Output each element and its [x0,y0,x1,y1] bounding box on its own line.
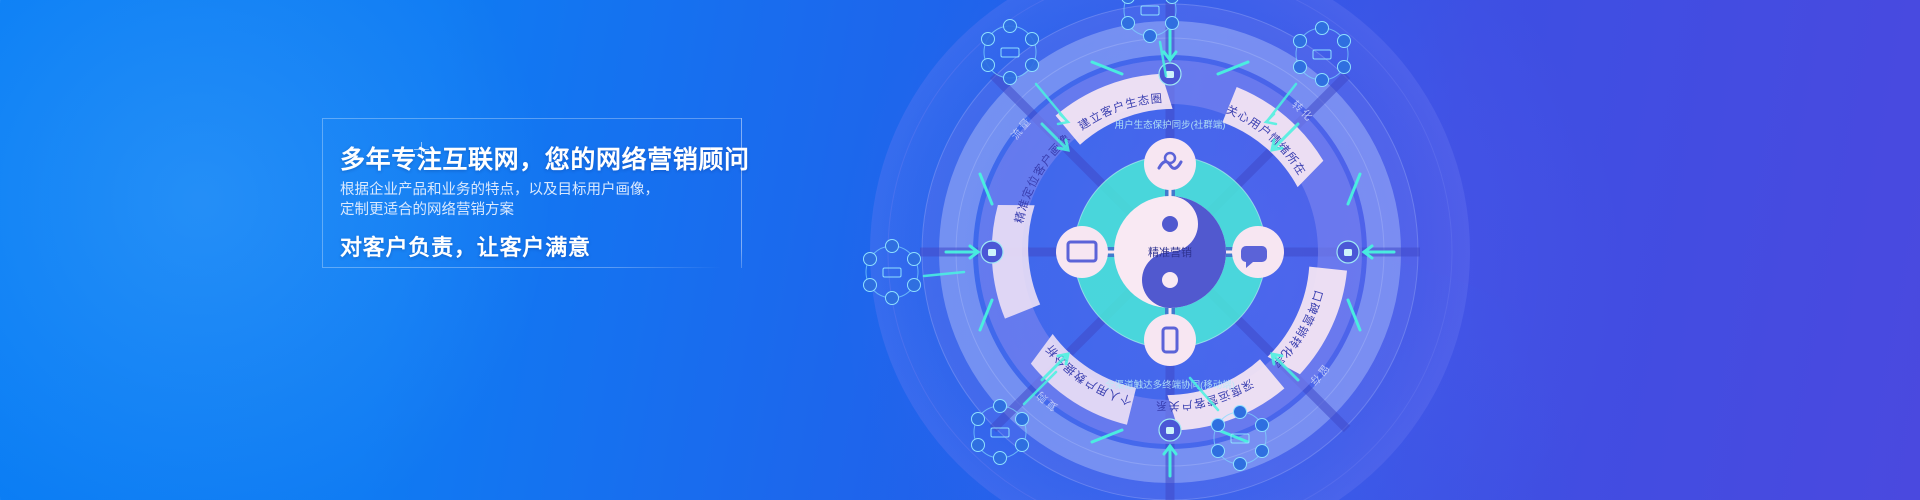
subtitle-block: 根据企业产品和业务的特点，以及目标用户画像， 定制更适合的网络营销方案 [340,180,659,220]
marketing-banner: 多年专注互联网，您的网络营销顾问 根据企业产品和业务的特点，以及目标用户画像， … [0,0,1920,500]
satellite-connectors [924,42,1296,410]
user-cluster-node [1122,0,1179,43]
tagline: 对客户负责，让客户满意 [340,230,591,262]
marketing-wheel-diagram: 建立客户生态圈 关心用户情绪所在 精准定位客户画像 个人用户数据分析 口碑营销转… [860,0,1480,500]
subtitle-line-1: 根据企业产品和业务的特点，以及目标用户画像， [340,180,659,200]
satellite-nodes [864,0,1351,471]
user-cluster-node [972,400,1029,465]
page-title: 多年专注互联网，您的网络营销顾问 [340,140,750,176]
user-cluster-node [1212,406,1269,471]
user-cluster-node [864,240,921,305]
user-cluster-node [982,20,1039,85]
user-cluster-node [1294,22,1351,87]
text-panel: 多年专注互联网，您的网络营销顾问 根据企业产品和业务的特点，以及目标用户画像， … [322,118,742,268]
crosshair-icon [414,142,429,157]
subtitle-line-2: 定制更适合的网络营销方案 [340,200,659,220]
